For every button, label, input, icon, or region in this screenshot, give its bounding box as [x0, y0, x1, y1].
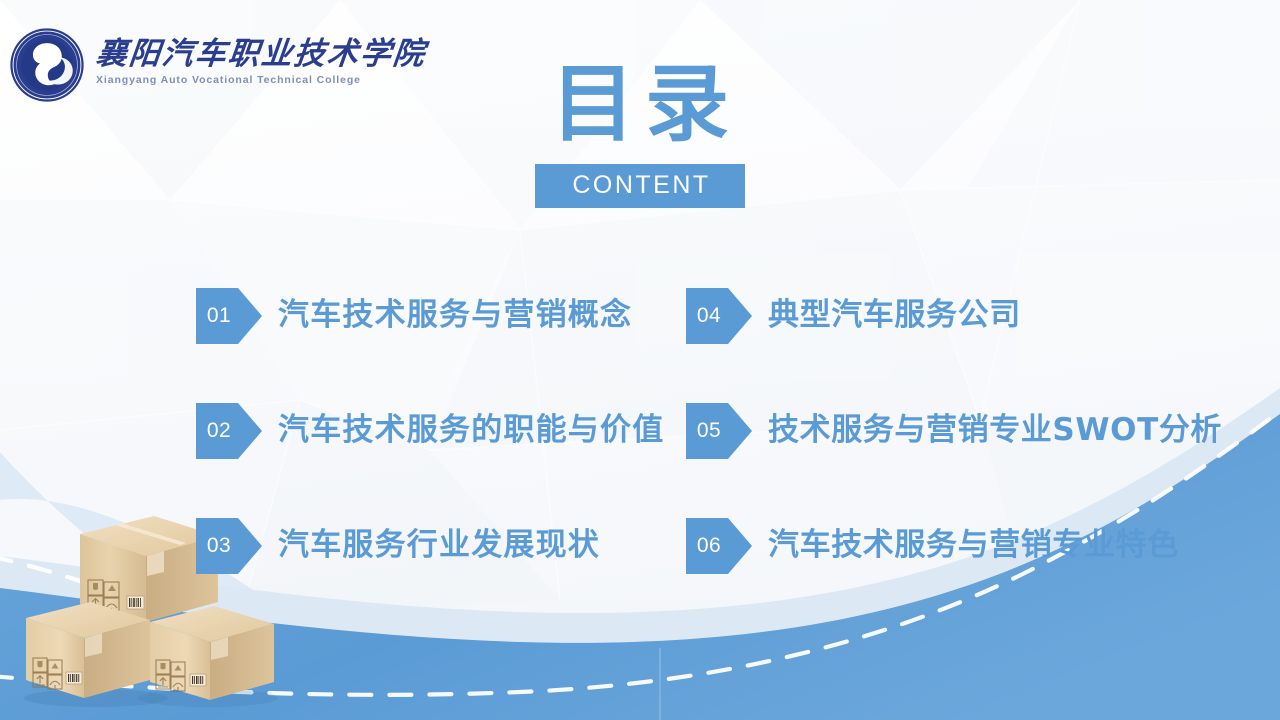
toc-item-02[interactable]: 02 汽车技术服务的职能与价值 — [196, 373, 686, 488]
arrow-badge-icon: 01 — [196, 288, 262, 344]
toc-label: 汽车服务行业发展现状 — [278, 528, 600, 562]
arrow-badge-icon: 04 — [686, 288, 752, 344]
college-emblem-icon — [8, 26, 86, 104]
college-name-en: Xiangyang Auto Vocational Technical Coll… — [96, 74, 426, 86]
arrow-badge-icon: 02 — [196, 403, 262, 459]
toc-label: 汽车技术服务与营销概念 — [278, 298, 632, 332]
toc-number: 02 — [196, 403, 242, 459]
toc-item-01[interactable]: 01 汽车技术服务与营销概念 — [196, 258, 686, 373]
arrow-badge-icon: 06 — [686, 518, 752, 574]
toc-label: 技术服务与营销专业SWOT分析 — [768, 413, 1222, 447]
toc-label: 汽车技术服务的职能与价值 — [278, 413, 664, 447]
toc-grid: 01 汽车技术服务与营销概念 04 典型汽车服务公司 02 汽车技术服务的职能与… — [0, 258, 1280, 603]
box-bottom-left — [26, 602, 150, 698]
toc-number: 03 — [196, 518, 242, 574]
toc-item-05[interactable]: 05 技术服务与营销专业SWOT分析 — [686, 373, 1280, 488]
toc-number: 06 — [686, 518, 732, 574]
toc-number: 05 — [686, 403, 732, 459]
brand-logo: 襄阳汽车职业技术学院 Xiangyang Auto Vocational Tec… — [8, 26, 426, 104]
arrow-badge-icon: 05 — [686, 403, 752, 459]
toc-number: 04 — [686, 288, 732, 344]
toc-number: 01 — [196, 288, 242, 344]
content-badge: CONTENT — [535, 164, 744, 208]
toc-item-03[interactable]: 03 汽车服务行业发展现状 — [196, 488, 686, 603]
toc-item-06[interactable]: 06 汽车技术服务与营销专业特色 — [686, 488, 1280, 603]
toc-label: 典型汽车服务公司 — [768, 298, 1021, 332]
slide-canvas: 襄阳汽车职业技术学院 Xiangyang Auto Vocational Tec… — [0, 0, 1280, 720]
arrow-badge-icon: 03 — [196, 518, 262, 574]
box-bottom-right — [150, 606, 274, 700]
college-name-cn: 襄阳汽车职业技术学院 — [94, 38, 427, 71]
toc-label: 汽车技术服务与营销专业特色 — [768, 528, 1179, 562]
toc-item-04[interactable]: 04 典型汽车服务公司 — [686, 258, 1280, 373]
